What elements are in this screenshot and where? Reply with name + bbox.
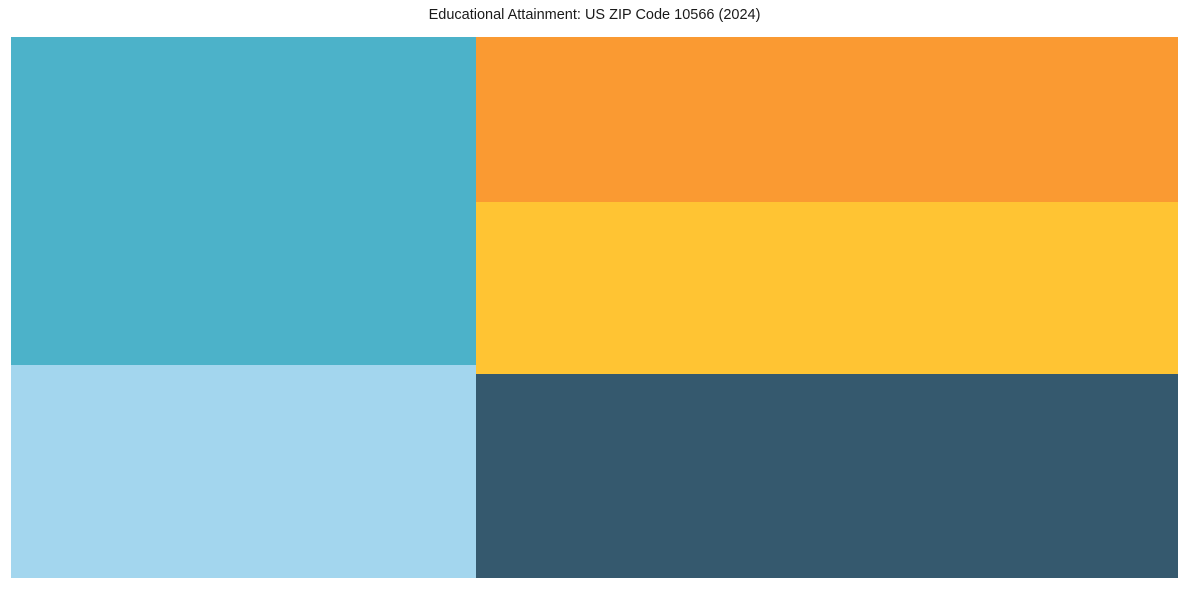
treemap-tile[interactable]: High school graduate [11, 37, 476, 365]
treemap-figure: Educational Attainment: US ZIP Code 1056… [0, 0, 1189, 590]
treemap-tile[interactable]: Graduate or professional degree [476, 37, 1178, 202]
treemap-tile-label: Less than high school [19, 371, 135, 385]
treemap-tile[interactable]: Some college or associate's [476, 202, 1178, 374]
treemap-plot-area: High school graduateGraduate or professi… [11, 37, 1178, 578]
treemap-tile[interactable]: Bachelor's degree [476, 374, 1178, 578]
treemap-tile-label: Bachelor's degree [484, 380, 580, 394]
treemap-tile-label: Some college or associate's [484, 208, 633, 222]
chart-title: Educational Attainment: US ZIP Code 1056… [0, 6, 1189, 24]
treemap-tile-label: Graduate or professional degree [484, 43, 657, 57]
treemap-tile-label: High school graduate [19, 43, 132, 57]
treemap-tile[interactable]: Less than high school [11, 365, 476, 578]
